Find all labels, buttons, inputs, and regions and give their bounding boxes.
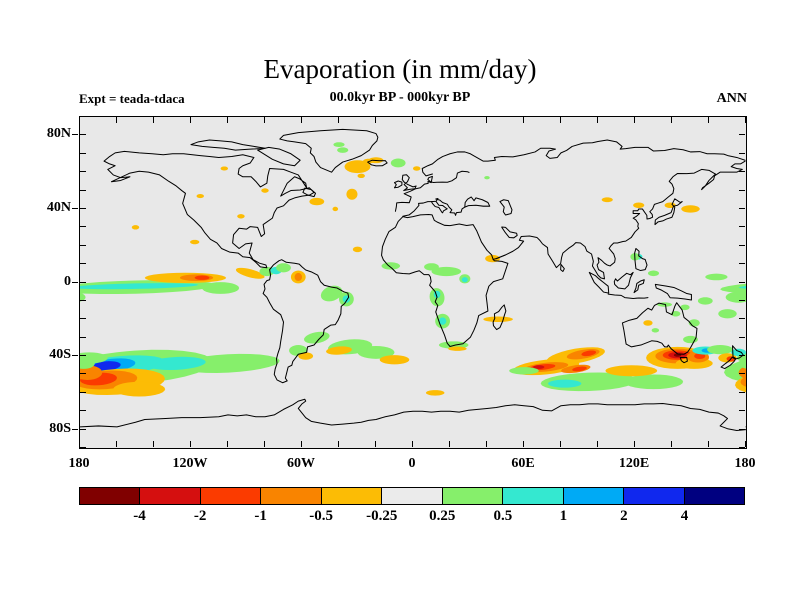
anomaly-contour-region (413, 166, 420, 170)
x-tick-minor-top (523, 117, 524, 123)
coastline-path (402, 175, 416, 191)
y-tick-minor-right (739, 116, 745, 117)
anomaly-contour-region (190, 240, 199, 244)
y-tick-minor-left (80, 318, 86, 319)
y-tick-minor-left (80, 134, 86, 135)
x-axis-label: 180 (69, 456, 90, 472)
y-axis-label: 0 (13, 274, 71, 290)
anomaly-contour-region (237, 214, 244, 218)
anomaly-contour-region (705, 274, 727, 281)
x-axis-label: 120W (173, 456, 208, 472)
coastline-path (80, 399, 746, 430)
anomaly-contour-region (358, 174, 365, 178)
x-tick-minor-top (708, 117, 709, 123)
x-tick-minor-bottom (449, 441, 450, 447)
x-axis-label: 0 (409, 456, 416, 472)
x-axis-label: 180 (735, 456, 756, 472)
colorbar-swatch[interactable] (80, 488, 140, 504)
anomaly-contour-region (353, 247, 362, 253)
anomaly-contour-region (648, 271, 659, 277)
y-tick-minor-right (739, 171, 745, 172)
colorbar-swatch[interactable] (564, 488, 624, 504)
x-tick-minor-bottom (412, 441, 413, 447)
y-tick-major (72, 134, 78, 135)
y-tick-minor-left (80, 355, 86, 356)
coastline-path (496, 161, 745, 279)
coastline-path (500, 200, 512, 215)
anomaly-contour-region (132, 225, 139, 229)
x-tick-minor-bottom (116, 441, 117, 447)
y-tick-minor-right (739, 226, 745, 227)
y-tick-minor-left (80, 116, 86, 117)
coastline-path (561, 264, 565, 271)
anomaly-contour-region (276, 263, 291, 272)
y-tick-minor-right (739, 392, 745, 393)
anomaly-contour-region (602, 197, 613, 202)
x-tick-minor-bottom (597, 441, 598, 447)
colorbar-tick-label: 2 (620, 508, 628, 525)
y-tick-minor-right (739, 337, 745, 338)
y-tick-minor-left (80, 392, 86, 393)
y-axis-label: 40S (13, 347, 71, 363)
x-tick-minor-top (116, 117, 117, 123)
anomaly-contour-region (484, 176, 490, 179)
experiment-label: Expt = teada-tdaca (79, 91, 185, 107)
x-tick-minor-bottom (153, 441, 154, 447)
anomaly-contour-region (718, 309, 737, 318)
x-tick-minor-bottom (301, 441, 302, 447)
anomaly-contour-region (548, 380, 581, 388)
colorbar[interactable] (79, 487, 745, 505)
coastline-path (191, 140, 265, 150)
x-tick-minor-bottom (190, 441, 191, 447)
colorbar-swatch[interactable] (140, 488, 200, 504)
x-tick-minor-top (227, 117, 228, 123)
anomaly-contour-region (202, 282, 239, 294)
y-tick-minor-left (80, 410, 86, 411)
colorbar-tick-label: -1 (254, 508, 267, 525)
y-tick-minor-right (739, 410, 745, 411)
y-tick-minor-right (739, 447, 745, 448)
y-tick-minor-left (80, 282, 86, 283)
y-tick-minor-right (739, 134, 745, 135)
y-axis-label: 80S (13, 421, 71, 437)
y-tick-minor-left (80, 373, 86, 374)
x-tick-minor-top (301, 117, 302, 123)
y-tick-minor-right (739, 282, 745, 283)
coastline-path (104, 151, 314, 267)
colorbar-swatch[interactable] (201, 488, 261, 504)
y-tick-minor-right (739, 318, 745, 319)
page-title: Evaporation (in mm/day) (0, 54, 800, 85)
y-tick-minor-right (739, 300, 745, 301)
y-tick-major (72, 429, 78, 430)
coastline-path (465, 197, 490, 207)
x-tick-minor-bottom (375, 441, 376, 447)
x-tick-minor-bottom (227, 441, 228, 447)
coastline-path (258, 147, 301, 165)
y-tick-minor-left (80, 153, 86, 154)
colorbar-tick-label: 0.5 (493, 508, 512, 525)
colorbar-swatch[interactable] (261, 488, 321, 504)
coastline-path (502, 227, 517, 238)
anomaly-contour-region (665, 203, 676, 209)
x-tick-minor-top (338, 117, 339, 123)
y-tick-minor-left (80, 447, 86, 448)
anomaly-contour-region (426, 390, 445, 396)
x-tick-minor-bottom (671, 441, 672, 447)
x-tick-minor-top (449, 117, 450, 123)
anomaly-contour-region (424, 263, 439, 270)
y-axis-label: 40N (13, 200, 71, 216)
x-tick-minor-top (79, 117, 80, 123)
anomaly-contour-region (197, 194, 204, 198)
x-axis-label: 60W (287, 456, 315, 472)
anomaly-contour-region (726, 292, 746, 303)
x-tick-minor-top (412, 117, 413, 123)
anomaly-fill-layer (80, 142, 746, 396)
x-tick-minor-top (597, 117, 598, 123)
anomaly-contour-region (483, 317, 513, 323)
y-tick-minor-left (80, 337, 86, 338)
anomaly-contour-region (261, 188, 268, 192)
anomaly-contour-region (195, 276, 210, 280)
y-tick-minor-right (739, 153, 745, 154)
x-tick-minor-top (264, 117, 265, 123)
anomaly-contour-region (509, 367, 539, 374)
anomaly-contour-region (382, 262, 401, 269)
y-tick-minor-left (80, 226, 86, 227)
anomaly-contour-region (652, 328, 659, 332)
coastline-path (655, 284, 691, 300)
colorbar-swatch[interactable] (443, 488, 503, 504)
coastline-path (634, 280, 644, 293)
x-tick-minor-top (486, 117, 487, 123)
x-tick-minor-top (634, 117, 635, 123)
anomaly-contour-region (337, 147, 348, 153)
y-tick-minor-left (80, 429, 86, 430)
anomaly-contour-region (113, 382, 165, 397)
season-label: ANN (717, 91, 747, 107)
colorbar-swatch[interactable] (685, 488, 744, 504)
x-tick-minor-bottom (560, 441, 561, 447)
anomaly-contour-region (605, 365, 657, 376)
colorbar-swatch[interactable] (503, 488, 563, 504)
anomaly-contour-region (707, 345, 733, 354)
colorbar-tick-label: -0.25 (366, 508, 397, 525)
y-tick-minor-right (739, 373, 745, 374)
anomaly-contour-region (221, 166, 228, 170)
anomaly-contour-region (380, 355, 410, 364)
x-tick-minor-top (190, 117, 191, 123)
coastline-path (622, 303, 697, 354)
y-tick-minor-right (739, 355, 745, 356)
x-tick-minor-bottom (264, 441, 265, 447)
y-tick-minor-left (80, 300, 86, 301)
anomaly-contour-region (333, 142, 344, 147)
colorbar-tick-label: 4 (681, 508, 689, 525)
colorbar-tick-label: -0.5 (309, 508, 333, 525)
y-tick-minor-left (80, 190, 86, 191)
anomaly-contour-region (643, 320, 652, 326)
y-tick-minor-right (739, 208, 745, 209)
x-tick-minor-bottom (745, 441, 746, 447)
coastline-path (422, 140, 745, 176)
y-tick-minor-right (739, 245, 745, 246)
y-tick-major (72, 208, 78, 209)
coastline-path (395, 171, 469, 211)
colorbar-tick-label: 0.25 (429, 508, 455, 525)
coastline-path (395, 181, 402, 188)
x-tick-minor-bottom (486, 441, 487, 447)
y-tick-minor-left (80, 245, 86, 246)
x-tick-minor-bottom (708, 441, 709, 447)
y-tick-major (72, 282, 78, 283)
y-tick-major (72, 355, 78, 356)
x-tick-minor-top (671, 117, 672, 123)
x-tick-minor-top (153, 117, 154, 123)
coastline-path (608, 294, 648, 298)
y-tick-minor-right (739, 190, 745, 191)
x-tick-minor-top (375, 117, 376, 123)
y-tick-minor-left (80, 171, 86, 172)
map-plot-area[interactable] (79, 116, 747, 449)
anomaly-contour-region (698, 297, 713, 304)
x-tick-minor-bottom (338, 441, 339, 447)
anomaly-contour-region (633, 203, 644, 209)
anomaly-contour-region (309, 198, 324, 205)
x-tick-minor-bottom (523, 441, 524, 447)
colorbar-tick-label: -4 (133, 508, 146, 525)
anomaly-contour-region (333, 207, 339, 211)
colorbar-tick-label: -2 (194, 508, 207, 525)
anomaly-contour-region (448, 346, 467, 350)
anomaly-contour-region (346, 189, 357, 200)
colorbar-tick-label: 1 (560, 508, 568, 525)
anomaly-contour-region (624, 374, 683, 389)
colorbar-swatch[interactable] (382, 488, 442, 504)
figure-canvas: Evaporation (in mm/day) 00.0kyr BP - 000… (0, 0, 800, 600)
coastline-path (403, 198, 465, 216)
anomaly-contour-region (462, 277, 468, 282)
colorbar-swatch[interactable] (624, 488, 684, 504)
anomaly-contour-region (391, 159, 406, 168)
x-axis-label: 60E (511, 456, 534, 472)
x-axis-label: 120E (619, 456, 649, 472)
x-tick-minor-bottom (634, 441, 635, 447)
anomaly-contour-region (681, 205, 700, 212)
y-tick-minor-right (739, 263, 745, 264)
y-tick-minor-right (739, 429, 745, 430)
x-tick-minor-top (560, 117, 561, 123)
coastline-path (614, 272, 633, 289)
y-tick-minor-left (80, 208, 86, 209)
x-tick-minor-top (745, 117, 746, 123)
y-tick-minor-left (80, 263, 86, 264)
colorbar-swatch[interactable] (322, 488, 382, 504)
y-axis-label: 80N (13, 126, 71, 142)
anomaly-contour-region (295, 273, 302, 281)
